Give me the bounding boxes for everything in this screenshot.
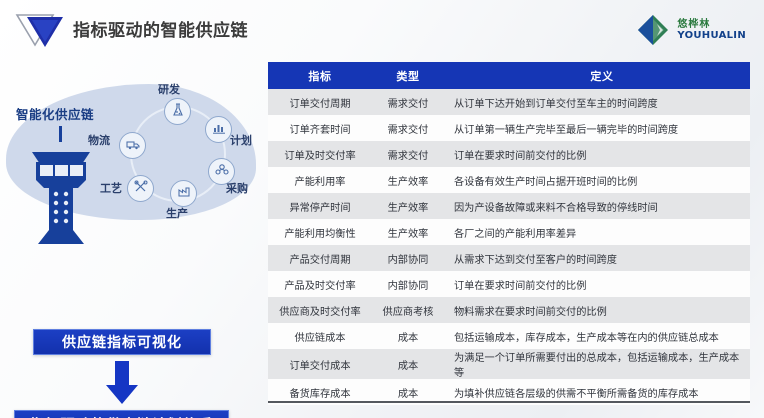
cell-definition: 因为产设备故障或来料不合格导致的停线时间 [444,193,750,219]
node-label-rd: 研发 [158,81,180,97]
node-logistics[interactable] [119,132,146,159]
cell-indicator: 订单交付周期 [268,89,372,115]
supply-chain-diagram: 智能化供应链 研发 [0,58,262,418]
production-factory-icon [176,184,192,204]
node-label-plan: 计划 [230,132,252,148]
brand-name-en: YOUHUALIN [677,30,746,41]
table-row: 供应链成本 成本 包括运输成本，库存成本，生产成本等在内的供应链总成本 [268,323,750,349]
cell-type: 需求交付 [372,115,444,141]
page-title: 指标驱动的智能供应链 [73,16,248,41]
cell-type: 供应商考核 [372,297,444,323]
node-label-logistics: 物流 [88,132,110,148]
table-row: 产能利用率 生产效率 各设备有效生产时间占据开班时间的比例 [268,167,750,193]
cell-type: 生产效率 [372,167,444,193]
table-bottom-divider [268,401,750,403]
cell-definition: 物料需求在要求时间前交付的比例 [444,297,750,323]
table-row: 订单交付成本 成本 为满足一个订单所需要付出的总成本，包括运输成本，生产成本等 [268,349,750,379]
column-header-type: 类型 [372,62,444,89]
table-row: 订单交付周期 需求交付 从订单下达开始到订单交付至车主的时间跨度 [268,89,750,115]
indicator-table: 指标 类型 定义 订单交付周期 需求交付 从订单下达开始到订单交付至车主的时间跨… [268,62,750,405]
cell-definition: 订单在要求时间前交付的比例 [444,271,750,297]
cell-type: 需求交付 [372,141,444,167]
page-header: 指标驱动的智能供应链 悠桦林 YOUHUALIN [0,0,764,58]
column-header-indicator: 指标 [268,62,372,89]
brand-logo: 悠桦林 YOUHUALIN [636,13,746,47]
table-row: 订单齐套时间 需求交付 从订单第一辆生产完毕至最后一辆完毕的时间跨度 [268,115,750,141]
cell-indicator: 产能利用均衡性 [268,219,372,245]
supply-chain-ring: 研发 计划 采购 生产 工艺 [104,80,254,228]
cell-type: 生产效率 [372,193,444,219]
cell-type: 内部协同 [372,271,444,297]
table-row: 订单及时交付率 需求交付 订单在要求时间前交付的比例 [268,141,750,167]
node-label-purchase: 采购 [226,180,248,196]
cell-type: 生产效率 [372,219,444,245]
purchase-cart-icon [214,162,230,182]
cell-indicator: 供应商及时交付率 [268,297,372,323]
brand-name-cn: 悠桦林 [677,19,746,30]
cell-definition: 从需求下达到交付至客户的时间跨度 [444,245,750,271]
youhualin-diamond-icon [636,13,670,47]
cell-type: 内部协同 [372,245,444,271]
table-row: 产能利用均衡性 生产效率 各厂之间的产能利用率差异 [268,219,750,245]
plan-chart-icon [211,120,227,140]
node-process[interactable] [127,175,154,202]
cell-indicator: 供应链成本 [268,323,372,349]
cell-indicator: 订单齐套时间 [268,115,372,141]
rd-flask-icon [170,102,186,122]
cell-indicator: 产品交付周期 [268,245,372,271]
cell-indicator: 订单及时交付率 [268,141,372,167]
table-header-row: 指标 类型 定义 [268,62,750,89]
table-row: 供应商及时交付率 供应商考核 物料需求在要求时间前交付的比例 [268,297,750,323]
triangle-logo-icon [13,11,67,49]
box-supply-chain-visualization[interactable]: 供应链指标可视化 [33,329,211,355]
cell-definition: 包括运输成本，库存成本，生产成本等在内的供应链总成本 [444,323,750,349]
diagram-blob-label: 智能化供应链 [16,104,94,123]
node-label-process: 工艺 [100,180,122,196]
cell-definition: 各厂之间的产能利用率差异 [444,219,750,245]
cell-definition: 从订单下达开始到订单交付至车主的时间跨度 [444,89,750,115]
cell-indicator: 订单交付成本 [268,349,372,379]
node-label-production: 生产 [166,205,188,221]
node-rd[interactable] [164,98,191,125]
column-header-definition: 定义 [444,62,750,89]
cell-indicator: 产品及时交付率 [268,271,372,297]
arrow-down-icon [103,361,141,405]
table-row: 产品交付周期 内部协同 从需求下达到交付至客户的时间跨度 [268,245,750,271]
node-plan[interactable] [205,116,232,143]
cell-indicator: 异常停产时间 [268,193,372,219]
cell-type: 成本 [372,323,444,349]
box-indicator-driven-plan-system[interactable]: 指标驱动的供应链计划体系 [14,410,229,418]
cell-type: 需求交付 [372,89,444,115]
node-production[interactable] [170,180,197,207]
table-row: 产品及时交付率 内部协同 订单在要求时间前交付的比例 [268,271,750,297]
cell-definition: 订单在要求时间前交付的比例 [444,141,750,167]
cell-definition: 从订单第一辆生产完毕至最后一辆完毕的时间跨度 [444,115,750,141]
table-body: 订单交付周期 需求交付 从订单下达开始到订单交付至车主的时间跨度 订单齐套时间 … [268,89,750,405]
table-row: 异常停产时间 生产效率 因为产设备故障或来料不合格导致的停线时间 [268,193,750,219]
process-tools-icon [133,179,149,199]
cell-indicator: 产能利用率 [268,167,372,193]
cell-definition: 为满足一个订单所需要付出的总成本，包括运输成本，生产成本等 [444,349,750,379]
logistics-truck-icon [125,136,141,156]
cell-definition: 各设备有效生产时间占据开班时间的比例 [444,167,750,193]
cell-type: 成本 [372,349,444,379]
